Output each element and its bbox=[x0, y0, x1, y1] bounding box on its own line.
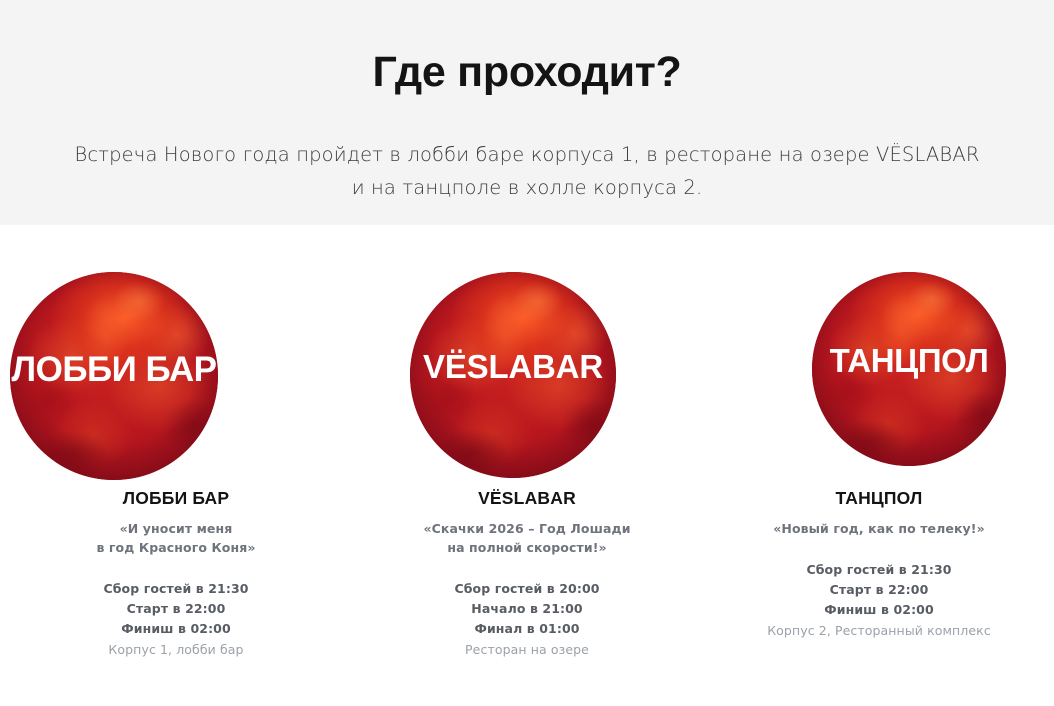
page-title: Где проходит? bbox=[0, 47, 1054, 97]
venue-caption: VËSLABAR «Скачки 2026 – Год Лошади на по… bbox=[351, 487, 703, 660]
intro-paragraph: Встреча Нового года пройдет в лобби баре… bbox=[0, 138, 1054, 204]
schedule-row: Финал в 01:00 bbox=[351, 619, 703, 639]
venue-title: ТАНЦПОЛ bbox=[703, 487, 1054, 509]
venue-tagline: «Новый год, как по телеку!» bbox=[703, 519, 1054, 538]
venue-tagline-line: в год Красного Коня» bbox=[0, 538, 352, 557]
venue-caption: ТАНЦПОЛ «Новый год, как по телеку!» Сбор… bbox=[703, 487, 1054, 641]
schedule-row: Старт в 22:00 bbox=[0, 599, 352, 619]
venue-tagline-line: «Новый год, как по телеку!» bbox=[703, 519, 1054, 538]
intro-line-1: Встреча Нового года пройдет в лобби баре… bbox=[0, 138, 1054, 171]
schedule-row: Начало в 21:00 bbox=[351, 599, 703, 619]
venue-title: VËSLABAR bbox=[351, 487, 703, 509]
venue-place: Корпус 2, Ресторанный комплекс bbox=[703, 621, 1054, 641]
badge-label: ЛОББИ БАР bbox=[10, 350, 218, 390]
badge-label: VËSLABAR bbox=[410, 348, 616, 386]
venue-caption: ЛОББИ БАР «И уносит меня в год Красного … bbox=[0, 487, 352, 660]
schedule-row: Сбор гостей в 21:30 bbox=[0, 579, 352, 599]
venue-tagline: «И уносит меня в год Красного Коня» bbox=[0, 519, 352, 557]
venue-card-lobby-bar[interactable]: ЛОББИ БАР ЛОББИ БАР «И уносит меня в год… bbox=[0, 225, 352, 706]
venue-badge-circle: ЛОББИ БАР bbox=[10, 272, 218, 480]
intro-line-2: и на танцполе в холле корпуса 2. bbox=[0, 171, 1054, 204]
venue-place: Корпус 1, лобби бар bbox=[0, 640, 352, 660]
venue-tagline-line: «И уносит меня bbox=[0, 519, 352, 538]
venue-badge-wrap: VËSLABAR bbox=[351, 272, 703, 482]
venue-badge-circle: ТАНЦПОЛ bbox=[812, 272, 1006, 466]
schedule-row: Старт в 22:00 bbox=[703, 580, 1054, 600]
venue-place: Ресторан на озере bbox=[351, 640, 703, 660]
schedule-row: Сбор гостей в 20:00 bbox=[351, 579, 703, 599]
venue-badge-wrap: ТАНЦПОЛ bbox=[703, 272, 1054, 482]
page-root: Где проходит? Встреча Нового года пройде… bbox=[0, 0, 1054, 706]
venue-schedule: Сбор гостей в 21:30 Старт в 22:00 Финиш … bbox=[0, 579, 352, 660]
venue-card-veslabar[interactable]: VËSLABAR VËSLABAR «Скачки 2026 – Год Лош… bbox=[351, 225, 703, 706]
venue-columns: ЛОББИ БАР ЛОББИ БАР «И уносит меня в год… bbox=[0, 225, 1054, 706]
venue-badge-circle: VËSLABAR bbox=[410, 272, 616, 478]
header-band: Где проходит? Встреча Нового года пройде… bbox=[0, 0, 1054, 225]
venue-tagline-line: на полной скорости!» bbox=[351, 538, 703, 557]
venue-badge-wrap: ЛОББИ БАР bbox=[0, 272, 352, 482]
schedule-row: Финиш в 02:00 bbox=[703, 600, 1054, 620]
venue-title: ЛОББИ БАР bbox=[0, 487, 352, 509]
schedule-row: Сбор гостей в 21:30 bbox=[703, 560, 1054, 580]
venue-schedule: Сбор гостей в 21:30 Старт в 22:00 Финиш … bbox=[703, 560, 1054, 641]
venue-tagline-line: «Скачки 2026 – Год Лошади bbox=[351, 519, 703, 538]
schedule-row: Финиш в 02:00 bbox=[0, 619, 352, 639]
badge-label: ТАНЦПОЛ bbox=[812, 342, 1006, 380]
venue-schedule: Сбор гостей в 20:00 Начало в 21:00 Финал… bbox=[351, 579, 703, 660]
venue-tagline: «Скачки 2026 – Год Лошади на полной скор… bbox=[351, 519, 703, 557]
venue-card-dancefloor[interactable]: ТАНЦПОЛ ТАНЦПОЛ «Новый год, как по телек… bbox=[703, 225, 1054, 706]
